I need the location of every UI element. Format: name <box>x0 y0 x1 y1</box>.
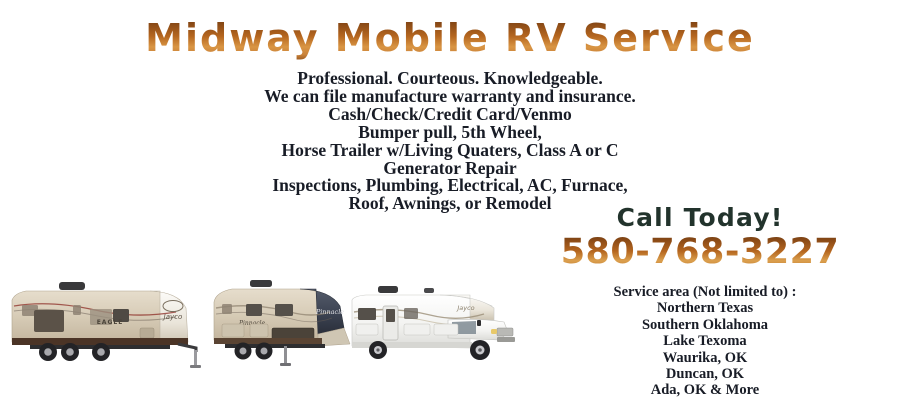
services-blurb: Professional. Courteous. Knowledgeable. … <box>0 70 900 213</box>
travel-trailer-jayco-eagle: Jayco EAGLE <box>12 282 201 368</box>
svg-text:Jayco: Jayco <box>455 304 474 312</box>
rv-lineup-image: Jayco EAGLE <box>0 262 545 387</box>
service-area-location: Southern Oklahoma <box>540 317 870 333</box>
service-area-location: Ada, OK & More <box>540 382 870 398</box>
class-c-motorhome-jayco: Jayco <box>352 286 515 360</box>
call-to-action-text: Call Today! <box>545 203 855 232</box>
svg-text:Pinnacle: Pinnacle <box>315 308 344 316</box>
fifth-wheel-pinnacle: Pinnacle Pinnacle <box>214 280 350 366</box>
services-line: Horse Trailer w/Living Quaters, Class A … <box>0 142 900 160</box>
service-area-location: Northern Texas <box>540 300 870 316</box>
service-area-location: Waurika, OK <box>540 350 870 366</box>
service-area-location: Lake Texoma <box>540 333 870 349</box>
phone-number[interactable]: 580-768-3227 <box>540 232 860 272</box>
service-area-location: Duncan, OK <box>540 366 870 382</box>
svg-text:EAGLE: EAGLE <box>97 319 124 326</box>
service-area-heading: Service area (Not limited to) : <box>540 284 870 300</box>
page-title: Midway Mobile RV Service <box>0 16 900 60</box>
svg-text:Jayco: Jayco <box>162 313 183 321</box>
rv-service-advertisement: Midway Mobile RV Service Professional. C… <box>0 0 900 400</box>
service-area-block: Service area (Not limited to) : Northern… <box>540 284 870 399</box>
services-line: Bumper pull, 5th Wheel, <box>0 124 900 142</box>
